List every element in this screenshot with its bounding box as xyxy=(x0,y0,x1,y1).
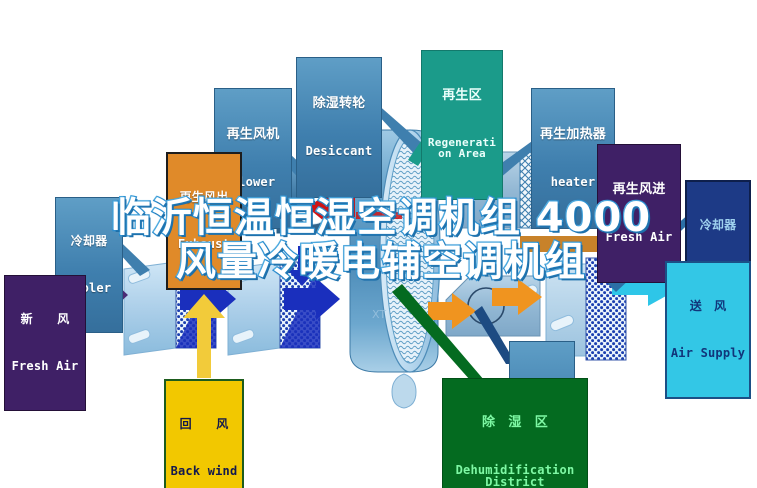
callout-regen-heater-cn: 再生加热器 xyxy=(535,128,611,142)
callout-air-supply-en: Air Supply xyxy=(670,347,746,360)
callout-dehum-district-en: Dehumidification District xyxy=(446,464,584,488)
callout-fresh-air-cn: 新 风 xyxy=(8,313,82,326)
callout-regen-exhaust-en: Exhaust xyxy=(171,238,237,251)
leader-dehum-district xyxy=(392,284,484,380)
callout-fresh-air[interactable]: 新 风 Fresh Air xyxy=(4,275,86,411)
callout-desiccant-wheel[interactable]: 除湿转轮 Desiccant xyxy=(296,57,382,198)
callout-back-wind[interactable]: 回 风 Back wind xyxy=(164,379,244,488)
callout-desiccant-wheel-cn: 除湿转轮 xyxy=(301,97,377,111)
callout-air-supply[interactable]: 送 风 Air Supply xyxy=(665,261,751,399)
callout-dehum-district[interactable]: 除 湿 区 Dehumidification District xyxy=(442,378,588,488)
diagram-canvas: XT xyxy=(0,0,757,488)
callout-cooler-right-cn: 冷却器 xyxy=(690,219,746,232)
callout-back-wind-en: Back wind xyxy=(169,465,239,478)
callout-regen-area-cn: 再生区 xyxy=(425,89,499,103)
callout-air-supply-cn: 送 风 xyxy=(670,300,746,313)
callout-regen-area[interactable]: 再生区 Regenerati on Area xyxy=(421,50,503,200)
callout-cooler-left-cn: 冷却器 xyxy=(59,235,119,248)
callout-dehum-district-cn: 除 湿 区 xyxy=(446,416,584,430)
callout-regen-fresh-air-en: Fresh Air xyxy=(601,231,677,244)
callout-fresh-air-en: Fresh Air xyxy=(8,360,82,373)
callout-regen-fresh-air-cn: 再生风进 xyxy=(601,183,677,197)
callout-back-wind-cn: 回 风 xyxy=(169,418,239,431)
callout-regen-exhaust[interactable]: 再生风出 Exhaust xyxy=(166,152,242,290)
callout-regen-exhaust-cn: 再生风出 xyxy=(171,191,237,204)
callout-regen-area-en: Regenerati on Area xyxy=(425,137,499,160)
callout-desiccant-wheel-en: Desiccant xyxy=(301,145,377,158)
callout-regen-blower-cn: 再生风机 xyxy=(219,128,287,142)
